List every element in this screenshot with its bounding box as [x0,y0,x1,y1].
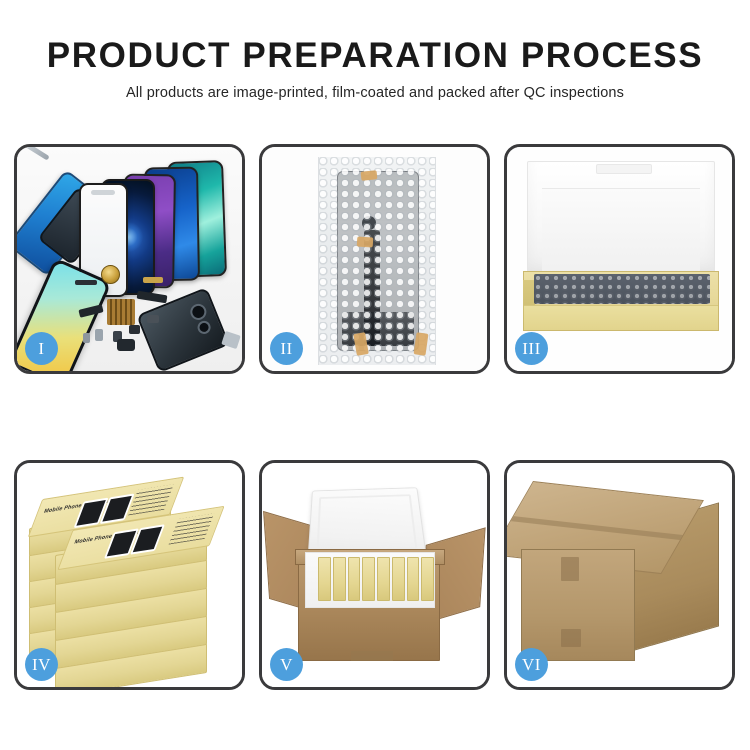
carton-tab-lower [561,629,581,647]
part-coil [101,265,120,284]
process-panel-2[interactable]: II [259,144,490,374]
panel-badge-5: V [270,648,303,681]
part-small-1 [129,325,140,334]
panel-badge-4: IV [25,648,58,681]
gray-bubble-wrap-fill [534,274,710,304]
foam-liner [305,552,435,608]
part-speaker [117,339,135,351]
camera-lens-icon [188,302,209,323]
box-spec-text-back [128,484,174,515]
yellow-box [362,557,375,601]
yellow-box [377,557,390,601]
box-foam-lid [527,161,715,277]
tape-middle [357,236,374,247]
page-subtitle: All products are image-printed, film-coa… [0,85,750,101]
process-panel-1[interactable]: I [14,144,245,374]
camera-lens-small-icon [196,319,213,336]
box-lid-tab [596,164,652,174]
panel-badge-2: II [270,332,303,365]
part-bar [75,280,97,285]
yellow-box-row [318,557,434,601]
panel-badge-3: III [515,332,548,365]
page-title: PRODUCT PREPARATION PROCESS [0,38,750,75]
panel-badge-1: I [25,332,58,365]
yellow-box [421,557,434,601]
part-small-5 [147,315,159,323]
yellow-box [333,557,346,601]
part-small-3 [95,329,103,341]
process-panel-4[interactable]: Mobile Phone Spare Parts Mobile Phone Sp… [14,460,245,690]
process-panel-5[interactable]: V [259,460,490,690]
yellow-box [407,557,420,601]
yellow-box [392,557,405,601]
box-spec-text-front [169,513,215,544]
tape-top [361,170,378,181]
open-kraft-box [523,271,719,331]
process-panel-grid: I II [14,144,736,690]
part-flex-cable-3 [143,277,163,283]
carton-tab-upper [561,557,579,581]
shipping-carton-open [298,555,440,661]
yellow-box [348,557,361,601]
bubble-wrap-bag [318,157,436,365]
box-front-wall [524,305,718,330]
carton-seam [351,651,393,661]
process-panel-3[interactable]: III [504,144,735,374]
part-chip-grid [107,299,135,325]
box-stack: Mobile Phone Spare Parts Mobile Phone Sp… [25,481,239,677]
process-panel-6[interactable]: VI [504,460,735,690]
yellow-box [318,557,331,601]
panel-badge-6: VI [515,648,548,681]
part-small-4 [83,333,90,343]
page-header: PRODUCT PREPARATION PROCESS All products… [0,0,750,101]
